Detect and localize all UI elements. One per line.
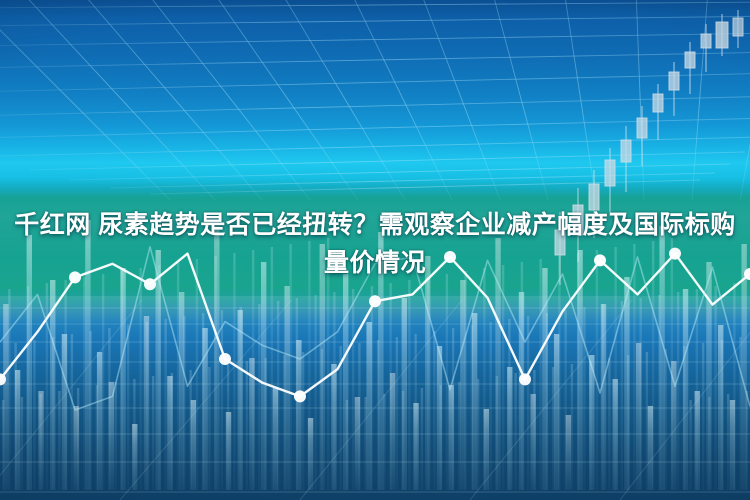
index-line-chart	[0, 230, 750, 420]
banner-image: 千红网 尿素趋势是否已经扭转？需观察企业减产幅度及国际标购量价情况	[0, 0, 750, 500]
